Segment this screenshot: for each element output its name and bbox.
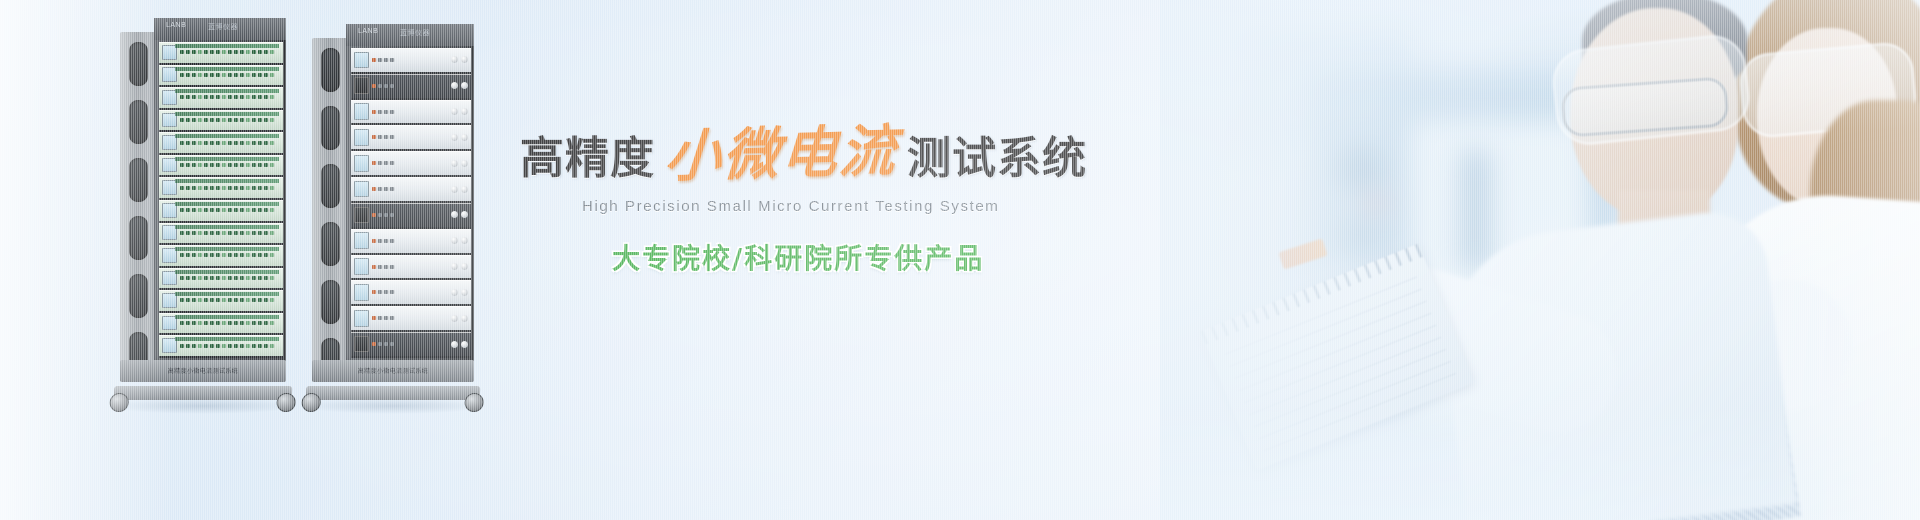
unit-led-indicator xyxy=(240,141,244,145)
unit-led-indicator xyxy=(264,163,268,167)
unit-led-indicator xyxy=(180,50,184,54)
unit-led-indicator xyxy=(270,141,274,145)
unit-led-indicator xyxy=(222,344,226,348)
instrument-unit xyxy=(351,151,471,177)
unit-led-indicator xyxy=(192,50,196,54)
unit-led-indicator xyxy=(264,231,268,235)
unit-led-indicator xyxy=(216,141,220,145)
unit-led-indicator xyxy=(252,321,256,325)
rack-vent-slot xyxy=(321,280,340,324)
unit-indicator-row xyxy=(180,141,280,145)
unit-led-indicator xyxy=(378,265,382,269)
unit-led-indicator xyxy=(384,239,388,243)
unit-led-indicator xyxy=(228,95,232,99)
unit-indicator-row xyxy=(372,342,448,346)
unit-led-indicator xyxy=(252,141,256,145)
unit-led-indicator xyxy=(228,231,232,235)
unit-led-indicator xyxy=(234,276,238,280)
rack-right-model-label: 蓝博仪器 xyxy=(400,28,430,38)
unit-led-indicator xyxy=(372,110,376,114)
unit-led-indicator xyxy=(228,321,232,325)
unit-led-indicator xyxy=(264,276,268,280)
unit-led-indicator xyxy=(240,344,244,348)
unit-led-indicator xyxy=(216,344,220,348)
unit-led-indicator xyxy=(222,231,226,235)
unit-led-indicator xyxy=(228,276,232,280)
instrument-unit xyxy=(159,110,283,133)
rack-vent-slot xyxy=(129,274,148,318)
unit-led-indicator xyxy=(252,253,256,257)
unit-led-indicator xyxy=(240,163,244,167)
rack-vent-slot xyxy=(321,222,340,266)
unit-status-bar xyxy=(175,225,279,229)
instrument-rack-right: LANB 蓝博仪器 高精度小微电流测试系统 xyxy=(312,24,474,410)
unit-led-indicator xyxy=(390,239,394,243)
unit-status-bar xyxy=(175,67,279,71)
rack-left-unit-list xyxy=(159,42,283,358)
unit-led-indicator xyxy=(384,135,388,139)
unit-led-indicator xyxy=(192,231,196,235)
unit-led-indicator xyxy=(204,186,208,190)
rack-vent-slot xyxy=(321,164,340,208)
unit-led-indicator xyxy=(198,298,202,302)
unit-led-indicator xyxy=(270,321,274,325)
rack-left-side-rail xyxy=(120,32,158,362)
instrument-unit xyxy=(159,313,283,336)
rack-left-base-panel: 高精度小微电流测试系统 xyxy=(120,360,286,382)
unit-control-knob xyxy=(451,211,458,218)
unit-indicator-row xyxy=(372,239,448,243)
unit-status-bar xyxy=(175,247,279,251)
instrument-unit xyxy=(351,332,471,358)
unit-led-indicator xyxy=(210,118,214,122)
unit-led-indicator xyxy=(222,298,226,302)
unit-led-indicator xyxy=(228,298,232,302)
unit-led-indicator xyxy=(198,73,202,77)
instrument-unit xyxy=(159,223,283,246)
unit-status-bar xyxy=(175,270,279,274)
unit-led-indicator xyxy=(216,95,220,99)
unit-led-indicator xyxy=(216,186,220,190)
unit-led-indicator xyxy=(222,50,226,54)
unit-led-indicator xyxy=(180,141,184,145)
unit-display-screen xyxy=(354,155,369,172)
unit-led-indicator xyxy=(240,253,244,257)
rack-left-body: LANB 蓝博仪器 xyxy=(154,18,286,362)
unit-led-indicator xyxy=(180,95,184,99)
unit-led-indicator xyxy=(390,187,394,191)
headline-suffix: 测试系统 xyxy=(907,137,1087,181)
unit-led-indicator xyxy=(204,163,208,167)
unit-led-indicator xyxy=(258,208,262,212)
unit-indicator-row xyxy=(372,135,448,139)
unit-control-knob xyxy=(451,160,458,167)
unit-indicator-row xyxy=(372,290,448,294)
instrument-unit xyxy=(159,268,283,291)
unit-led-indicator xyxy=(186,186,190,190)
unit-led-indicator xyxy=(198,50,202,54)
unit-indicator-row xyxy=(372,265,448,269)
unit-led-indicator xyxy=(390,110,394,114)
unit-led-indicator xyxy=(192,298,196,302)
unit-led-indicator xyxy=(258,344,262,348)
unit-status-bar xyxy=(175,315,279,319)
unit-led-indicator xyxy=(246,298,250,302)
unit-led-indicator xyxy=(378,316,382,320)
unit-led-indicator xyxy=(204,118,208,122)
unit-led-indicator xyxy=(378,135,382,139)
unit-led-indicator xyxy=(390,213,394,217)
unit-led-indicator xyxy=(384,58,388,62)
unit-led-indicator xyxy=(264,344,268,348)
rack-right-side-rail xyxy=(312,38,350,362)
unit-led-indicator xyxy=(378,58,382,62)
unit-led-indicator xyxy=(264,208,268,212)
unit-control-knob xyxy=(451,341,458,348)
unit-led-indicator xyxy=(204,231,208,235)
unit-led-indicator xyxy=(180,118,184,122)
unit-led-indicator xyxy=(240,95,244,99)
unit-led-indicator xyxy=(258,321,262,325)
banner-headline: 高精度 小微电流 测试系统 xyxy=(520,126,1160,182)
unit-led-indicator xyxy=(234,253,238,257)
unit-led-indicator xyxy=(390,58,394,62)
unit-led-indicator xyxy=(264,95,268,99)
unit-indicator-row xyxy=(180,73,280,77)
unit-led-indicator xyxy=(204,208,208,212)
unit-led-indicator xyxy=(372,239,376,243)
unit-led-indicator xyxy=(258,231,262,235)
rack-left-top-plate: LANB 蓝博仪器 xyxy=(154,18,286,40)
unit-led-indicator xyxy=(258,298,262,302)
unit-led-indicator xyxy=(252,50,256,54)
unit-led-indicator xyxy=(378,187,382,191)
unit-led-indicator xyxy=(246,253,250,257)
unit-led-indicator xyxy=(210,73,214,77)
unit-led-indicator xyxy=(198,141,202,145)
unit-led-indicator xyxy=(384,187,388,191)
rack-right-body: LANB 蓝博仪器 xyxy=(346,24,474,362)
rack-right-unit-list xyxy=(351,48,471,358)
unit-led-indicator xyxy=(252,118,256,122)
unit-status-bar xyxy=(175,157,279,161)
rack-vent-slot xyxy=(321,106,340,150)
unit-led-indicator xyxy=(192,141,196,145)
unit-led-indicator xyxy=(210,276,214,280)
unit-control-knob xyxy=(451,315,458,322)
unit-led-indicator xyxy=(264,186,268,190)
unit-status-bar xyxy=(175,89,279,93)
unit-led-indicator xyxy=(384,213,388,217)
rack-vent-slot xyxy=(129,158,148,202)
unit-led-indicator xyxy=(258,95,262,99)
unit-led-indicator xyxy=(192,208,196,212)
unit-led-indicator xyxy=(180,298,184,302)
rack-left-brand-label: LANB xyxy=(166,22,186,29)
unit-led-indicator xyxy=(372,58,376,62)
unit-led-indicator xyxy=(234,73,238,77)
unit-led-indicator xyxy=(234,95,238,99)
instrument-unit xyxy=(159,177,283,200)
instrument-unit xyxy=(159,65,283,88)
unit-led-indicator xyxy=(186,95,190,99)
unit-led-indicator xyxy=(252,231,256,235)
unit-led-indicator xyxy=(192,118,196,122)
unit-led-indicator xyxy=(210,186,214,190)
unit-led-indicator xyxy=(252,208,256,212)
rack-right-base-label: 高精度小微电流测试系统 xyxy=(358,366,428,375)
unit-led-indicator xyxy=(228,118,232,122)
unit-led-indicator xyxy=(246,73,250,77)
unit-led-indicator xyxy=(252,163,256,167)
unit-led-indicator xyxy=(246,95,250,99)
unit-control-knob xyxy=(451,108,458,115)
unit-indicator-row xyxy=(372,316,448,320)
instrument-unit xyxy=(351,74,471,100)
unit-display-screen xyxy=(354,52,369,69)
unit-control-knob xyxy=(461,341,468,348)
unit-display-screen xyxy=(354,258,369,275)
unit-control-knob xyxy=(461,263,468,270)
product-banner: LANB 蓝博仪器 高精度小微电流测试系统 LANB 蓝博仪器 xyxy=(0,0,1920,520)
unit-led-indicator xyxy=(258,276,262,280)
unit-led-indicator xyxy=(192,321,196,325)
unit-control-knob xyxy=(461,56,468,63)
unit-led-indicator xyxy=(240,208,244,212)
unit-led-indicator xyxy=(222,141,226,145)
unit-led-indicator xyxy=(186,321,190,325)
unit-led-indicator xyxy=(228,163,232,167)
unit-control-knob xyxy=(461,160,468,167)
unit-indicator-row xyxy=(180,50,280,54)
unit-led-indicator xyxy=(390,84,394,88)
banner-text-block: 高精度 小微电流 测试系统 High Precision Small Micro… xyxy=(520,126,1160,277)
unit-led-indicator xyxy=(234,186,238,190)
unit-led-indicator xyxy=(384,161,388,165)
unit-led-indicator xyxy=(222,118,226,122)
unit-led-indicator xyxy=(222,321,226,325)
unit-led-indicator xyxy=(210,50,214,54)
unit-led-indicator xyxy=(234,231,238,235)
unit-led-indicator xyxy=(210,95,214,99)
unit-indicator-row xyxy=(372,187,448,191)
unit-indicator-row xyxy=(372,110,448,114)
unit-led-indicator xyxy=(240,231,244,235)
unit-led-indicator xyxy=(204,95,208,99)
unit-led-indicator xyxy=(222,163,226,167)
unit-led-indicator xyxy=(240,321,244,325)
instrument-unit xyxy=(159,335,283,358)
instrument-unit xyxy=(159,42,283,65)
instrument-unit xyxy=(159,290,283,313)
unit-led-indicator xyxy=(222,253,226,257)
unit-control-knob xyxy=(461,186,468,193)
unit-led-indicator xyxy=(378,213,382,217)
instrument-unit xyxy=(351,306,471,332)
unit-led-indicator xyxy=(258,50,262,54)
unit-led-indicator xyxy=(378,84,382,88)
unit-control-knob xyxy=(461,289,468,296)
unit-control-knob xyxy=(451,289,458,296)
unit-indicator-row xyxy=(372,161,448,165)
rack-left-frame: LANB 蓝博仪器 高精度小微电流测试系统 xyxy=(120,18,286,410)
unit-control-knob xyxy=(461,134,468,141)
unit-indicator-row xyxy=(180,118,280,122)
unit-led-indicator xyxy=(192,95,196,99)
unit-led-indicator xyxy=(204,253,208,257)
unit-led-indicator xyxy=(372,342,376,346)
unit-led-indicator xyxy=(240,118,244,122)
instrument-rack-left: LANB 蓝博仪器 高精度小微电流测试系统 xyxy=(120,18,286,410)
unit-indicator-row xyxy=(180,163,280,167)
unit-led-indicator xyxy=(234,208,238,212)
unit-led-indicator xyxy=(258,163,262,167)
unit-led-indicator xyxy=(246,344,250,348)
unit-led-indicator xyxy=(186,298,190,302)
unit-led-indicator xyxy=(240,73,244,77)
unit-led-indicator xyxy=(372,213,376,217)
unit-led-indicator xyxy=(198,321,202,325)
unit-led-indicator xyxy=(246,231,250,235)
unit-control-knob xyxy=(451,134,458,141)
rack-right-legs xyxy=(306,386,480,400)
unit-led-indicator xyxy=(186,208,190,212)
unit-led-indicator xyxy=(270,95,274,99)
unit-led-indicator xyxy=(204,73,208,77)
rack-vent-slot xyxy=(321,48,340,92)
unit-led-indicator xyxy=(216,231,220,235)
unit-led-indicator xyxy=(228,253,232,257)
unit-display-screen xyxy=(354,310,369,327)
rack-vent-slot xyxy=(129,42,148,86)
unit-led-indicator xyxy=(186,231,190,235)
unit-led-indicator xyxy=(180,231,184,235)
unit-indicator-row xyxy=(180,344,280,348)
unit-led-indicator xyxy=(270,163,274,167)
unit-led-indicator xyxy=(378,161,382,165)
unit-led-indicator xyxy=(384,110,388,114)
unit-led-indicator xyxy=(186,50,190,54)
rack-vent-slot xyxy=(129,100,148,144)
unit-led-indicator xyxy=(372,290,376,294)
unit-led-indicator xyxy=(372,265,376,269)
unit-led-indicator xyxy=(264,321,268,325)
unit-led-indicator xyxy=(198,231,202,235)
unit-led-indicator xyxy=(192,73,196,77)
unit-led-indicator xyxy=(180,321,184,325)
instrument-unit xyxy=(159,200,283,223)
unit-indicator-row xyxy=(180,298,280,302)
unit-status-bar xyxy=(175,202,279,206)
unit-led-indicator xyxy=(210,141,214,145)
banner-subtitle: High Precision Small Micro Current Testi… xyxy=(582,198,1160,215)
unit-led-indicator xyxy=(216,118,220,122)
unit-led-indicator xyxy=(252,298,256,302)
unit-led-indicator xyxy=(270,73,274,77)
unit-led-indicator xyxy=(264,50,268,54)
unit-status-bar xyxy=(175,134,279,138)
unit-led-indicator xyxy=(228,73,232,77)
unit-led-indicator xyxy=(186,344,190,348)
unit-led-indicator xyxy=(246,50,250,54)
instrument-unit xyxy=(351,280,471,306)
unit-led-indicator xyxy=(390,290,394,294)
unit-led-indicator xyxy=(390,161,394,165)
unit-led-indicator xyxy=(258,186,262,190)
unit-display-screen xyxy=(354,284,369,301)
unit-led-indicator xyxy=(192,344,196,348)
unit-led-indicator xyxy=(186,276,190,280)
unit-control-knob xyxy=(461,211,468,218)
unit-led-indicator xyxy=(186,73,190,77)
unit-led-indicator xyxy=(270,298,274,302)
unit-led-indicator xyxy=(258,73,262,77)
unit-led-indicator xyxy=(246,163,250,167)
instrument-unit xyxy=(351,229,471,255)
unit-control-knob xyxy=(451,56,458,63)
unit-led-indicator xyxy=(228,344,232,348)
unit-led-indicator xyxy=(228,50,232,54)
unit-led-indicator xyxy=(210,163,214,167)
rack-right-caster-left xyxy=(301,393,321,412)
unit-led-indicator xyxy=(246,186,250,190)
unit-led-indicator xyxy=(222,73,226,77)
unit-led-indicator xyxy=(180,276,184,280)
unit-led-indicator xyxy=(246,141,250,145)
unit-led-indicator xyxy=(246,321,250,325)
unit-led-indicator xyxy=(246,118,250,122)
unit-status-bar xyxy=(175,112,279,116)
unit-indicator-row xyxy=(180,186,280,190)
unit-control-knob xyxy=(461,82,468,89)
unit-indicator-row xyxy=(180,208,280,212)
unit-led-indicator xyxy=(180,163,184,167)
unit-led-indicator xyxy=(228,141,232,145)
unit-led-indicator xyxy=(222,186,226,190)
unit-led-indicator xyxy=(222,208,226,212)
unit-led-indicator xyxy=(240,276,244,280)
unit-led-indicator xyxy=(270,186,274,190)
unit-led-indicator xyxy=(216,276,220,280)
unit-status-bar xyxy=(175,337,279,341)
unit-led-indicator xyxy=(198,276,202,280)
instrument-unit xyxy=(351,255,471,281)
unit-led-indicator xyxy=(234,298,238,302)
unit-indicator-row xyxy=(180,321,280,325)
unit-led-indicator xyxy=(372,316,376,320)
photo-fade-overlay xyxy=(1160,0,1920,520)
unit-led-indicator xyxy=(240,186,244,190)
unit-indicator-row xyxy=(372,213,448,217)
unit-led-indicator xyxy=(180,186,184,190)
unit-display-screen xyxy=(354,77,369,94)
unit-led-indicator xyxy=(378,239,382,243)
banner-tagline: 大专院校/科研院所专供产品 xyxy=(612,237,1160,277)
unit-display-screen xyxy=(354,207,369,224)
unit-indicator-row xyxy=(180,231,280,235)
unit-led-indicator xyxy=(270,344,274,348)
instrument-unit xyxy=(351,48,471,74)
unit-led-indicator xyxy=(234,118,238,122)
unit-led-indicator xyxy=(198,253,202,257)
unit-led-indicator xyxy=(210,208,214,212)
unit-led-indicator xyxy=(270,276,274,280)
instrument-unit xyxy=(351,177,471,203)
unit-control-knob xyxy=(451,186,458,193)
unit-led-indicator xyxy=(258,141,262,145)
unit-led-indicator xyxy=(270,50,274,54)
unit-led-indicator xyxy=(378,290,382,294)
